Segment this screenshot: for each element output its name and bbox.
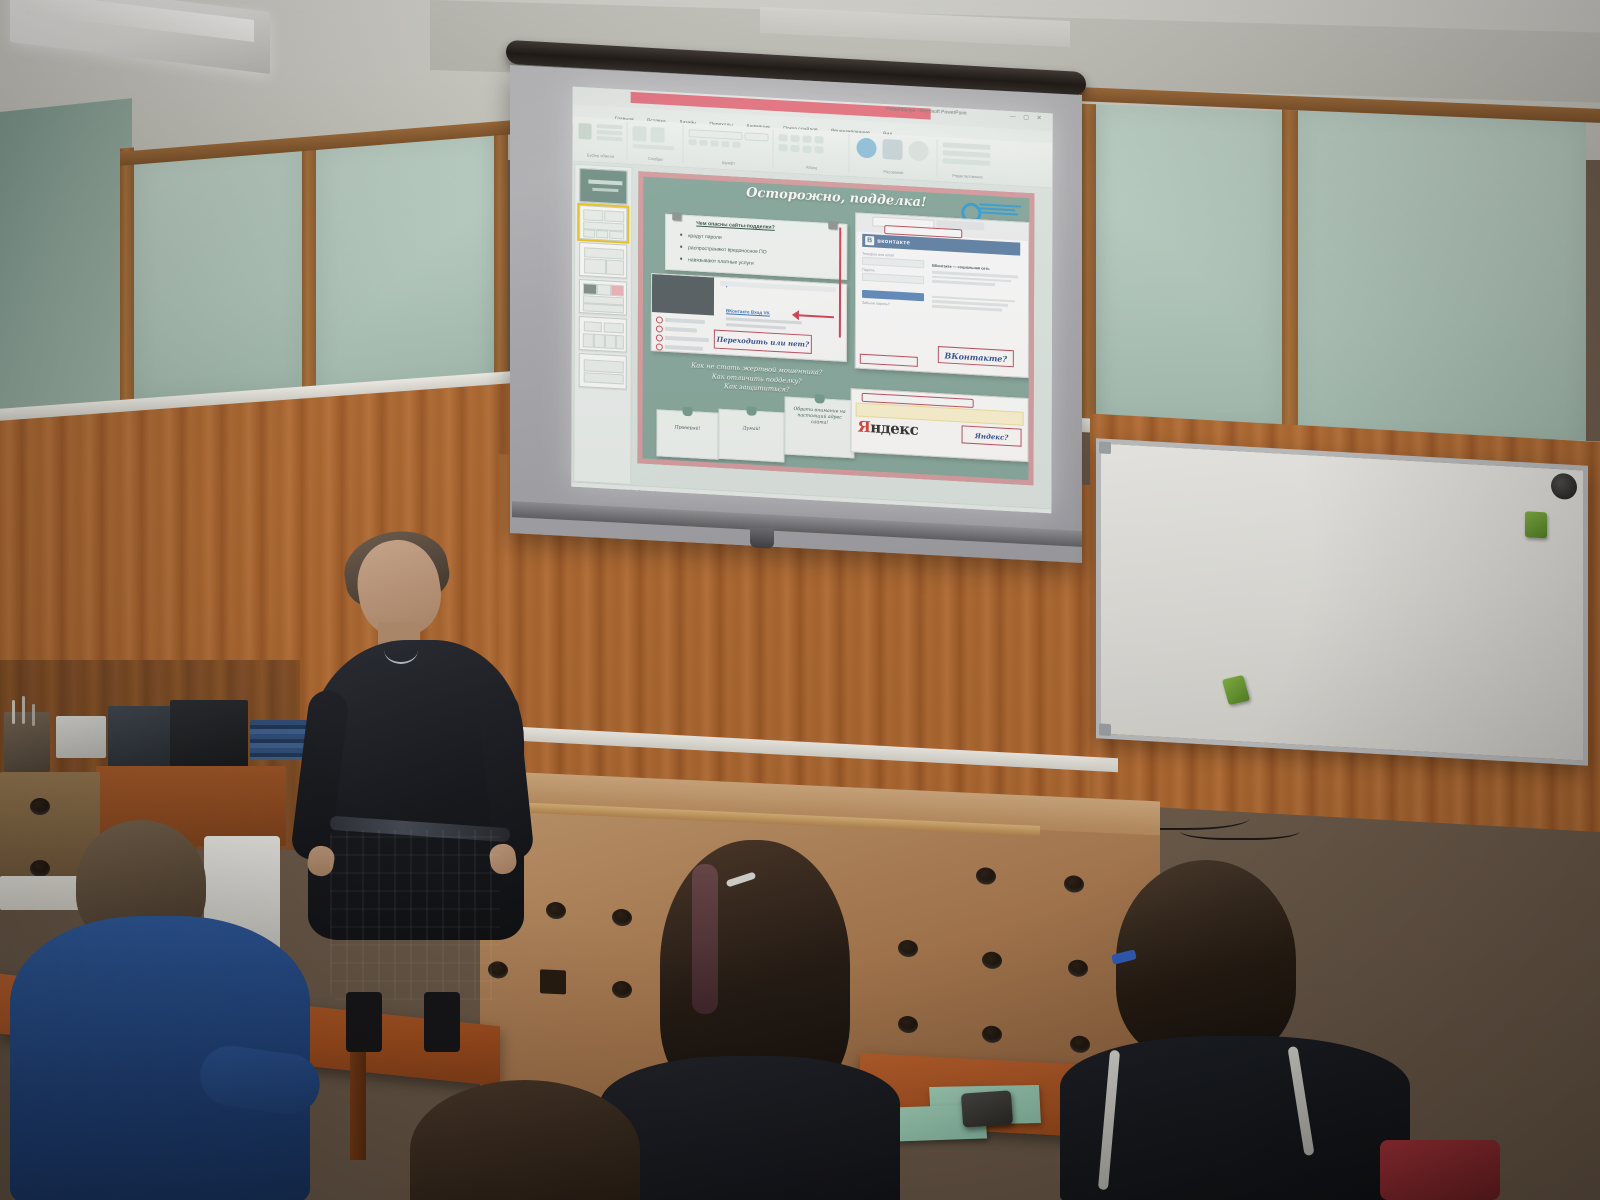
- whiteboard-knob-icon: [1551, 473, 1577, 500]
- white-equipment-box: [56, 716, 106, 758]
- ribbon-group-clipboard[interactable]: Буфер обмена: [574, 119, 627, 160]
- student-left: [10, 820, 350, 1200]
- pen: [22, 696, 25, 724]
- wall-stud-2: [302, 141, 316, 396]
- pegboard-hole: [982, 1025, 1002, 1043]
- wall-stud-5: [1282, 110, 1298, 445]
- yandex-logo-red: Я: [858, 418, 871, 437]
- powerpoint-window[interactable]: Prezentaciya - Microsoft PowerPoint — ▢ …: [571, 87, 1052, 514]
- pen: [12, 700, 15, 724]
- dangers-heading: Чем опасны сайты-подделки?: [696, 221, 775, 231]
- pegboard-square-hole: [540, 969, 566, 994]
- whiteboard-magnet[interactable]: [1222, 675, 1250, 705]
- pegboard-hole: [982, 951, 1002, 969]
- slide-card-search-results: ВКонтакте Вход VK Переходить или нет?: [651, 273, 847, 362]
- note-clip-icon: [747, 406, 757, 416]
- slide-thumbnail-panel[interactable]: [573, 164, 632, 485]
- ribbon-group-label-clipboard: Буфер обмена: [574, 152, 626, 160]
- ribbon-group-label-editing: Редактирование: [938, 172, 996, 180]
- slide-thumbnail[interactable]: [579, 168, 627, 205]
- classroom-scene: Prezentaciya - Microsoft PowerPoint — ▢ …: [0, 0, 1600, 1200]
- vk-login-form[interactable]: Телефон или email Пароль Забыли пароль?: [862, 252, 924, 309]
- necklace: [384, 636, 418, 664]
- slide-thumbnail[interactable]: [579, 279, 627, 316]
- pin-icon: [828, 221, 837, 230]
- search-sidebar: [652, 274, 714, 315]
- whiteboard-magnet[interactable]: [1525, 511, 1547, 538]
- power-cable-2: [1180, 818, 1300, 840]
- black-device: [170, 700, 248, 772]
- note-text: Проверяй!: [675, 425, 701, 431]
- slide-card-yandex: Яндекс Яндекс?: [850, 388, 1028, 462]
- question-box-transition: Переходить или нет?: [714, 330, 812, 354]
- vk-logo-icon: B: [865, 236, 874, 246]
- ribbon-group-label-paragraph: Абзац: [774, 163, 848, 172]
- wall-panel-3: [1096, 104, 1282, 431]
- question-box-vk: ВКонтакте?: [938, 346, 1014, 367]
- ribbon-group-paragraph[interactable]: Абзац: [774, 130, 849, 172]
- search-topbar-link: [726, 281, 727, 286]
- projector-screen-assembly: Prezentaciya - Microsoft PowerPoint — ▢ …: [498, 38, 1088, 538]
- vk-brand-text: вконтакте: [877, 238, 910, 246]
- wall-stud-1: [120, 147, 134, 400]
- yandex-logo-rest: ндекс: [870, 418, 918, 439]
- pegboard-hole: [546, 902, 566, 920]
- dangers-item: распространяют вредоносное ПО: [688, 245, 767, 255]
- hair-highlight: [692, 864, 718, 1014]
- slide-editing-area[interactable]: Осторожно, подделка!: [633, 169, 1044, 504]
- vk-login-button[interactable]: [862, 290, 924, 301]
- pegboard-hole: [976, 867, 996, 885]
- teacher-leg: [424, 992, 460, 1052]
- ribbon-group-editing[interactable]: Редактирование: [938, 139, 996, 180]
- screen-pull-knob[interactable]: [750, 527, 774, 548]
- wall-panel-4: [1296, 107, 1586, 450]
- dangers-item: крадут пароли: [688, 233, 722, 241]
- ribbon-group-label-drawing: Рисование: [850, 167, 936, 177]
- slide-card-vk: B вконтакте Телефон или email Пароль: [855, 212, 1030, 378]
- whiteboard: [1096, 438, 1588, 766]
- student-hair: [1116, 860, 1296, 1060]
- slide-note-1: Проверяй!: [656, 409, 718, 459]
- ribbon-group-slides[interactable]: Слайды: [628, 122, 683, 163]
- slide-thumbnail[interactable]: [579, 205, 627, 242]
- smartphone[interactable]: [961, 1090, 1013, 1127]
- whiteboard-corner: [1099, 723, 1111, 736]
- slide-thumbnail[interactable]: [579, 242, 627, 279]
- slide-thumbnail[interactable]: [579, 316, 627, 353]
- whiteboard-corner: [1099, 441, 1111, 454]
- note-text: Думай!: [743, 426, 761, 432]
- current-slide[interactable]: Осторожно, подделка!: [637, 171, 1034, 485]
- pen-holder: [4, 712, 50, 772]
- printer: [108, 706, 174, 768]
- student-foreground: [390, 1080, 680, 1200]
- student-right: [1060, 860, 1420, 1200]
- slide-card-dangers: Чем опасны сайты-подделки? крадут пароли…: [665, 214, 847, 280]
- note-clip-icon: [683, 407, 693, 417]
- vk-forgot-link[interactable]: Забыли пароль?: [862, 301, 924, 308]
- yandex-logo-icon: Яндекс: [858, 418, 919, 439]
- arrow-to-result: [798, 314, 834, 318]
- ribbon-group-label-font: Шрифт: [684, 158, 772, 168]
- ribbon-group-font[interactable]: Шрифт: [684, 125, 773, 168]
- teacher-leg: [346, 992, 382, 1052]
- ppt-workspace: Осторожно, подделка!: [571, 162, 1052, 509]
- ribbon-group-drawing[interactable]: Рисование: [850, 134, 937, 177]
- slide-note-3: Обрати внимание на настоящий адрес сайта…: [784, 396, 854, 458]
- window-buttons[interactable]: — ▢ ✕: [1010, 113, 1045, 122]
- note-text: Обрати внимание на настоящий адрес сайта…: [794, 407, 846, 426]
- wall-panel-1: [134, 143, 302, 404]
- student-hair: [410, 1080, 640, 1200]
- note-clip-icon: [815, 394, 825, 404]
- search-result-link[interactable]: ВКонтакте Вход VK: [726, 308, 770, 315]
- question-box-yandex: Яндекс?: [962, 425, 1022, 446]
- handwritten-questions: Как не стать жертвой мошенника? Как отли…: [667, 360, 847, 399]
- teacher-skirt: [330, 830, 500, 1000]
- slide-thumbnail[interactable]: [579, 353, 627, 390]
- desk-leg: [350, 1040, 366, 1160]
- cabinet-hole: [30, 798, 50, 815]
- red-bag: [1380, 1140, 1500, 1200]
- slide-note-2: Думай!: [718, 409, 784, 463]
- pen: [32, 704, 35, 726]
- fluorescent-light-icon: [10, 0, 270, 74]
- arrow-head-icon: [792, 310, 799, 320]
- pin-icon: [672, 212, 681, 221]
- wall-panel-2: [316, 134, 494, 398]
- dangers-item: навязывают платные услуги: [688, 257, 754, 267]
- ribbon-group-label-slides: Слайды: [628, 155, 682, 163]
- vk-info-column: ВКонтакте — социальная сеть: [932, 256, 1022, 315]
